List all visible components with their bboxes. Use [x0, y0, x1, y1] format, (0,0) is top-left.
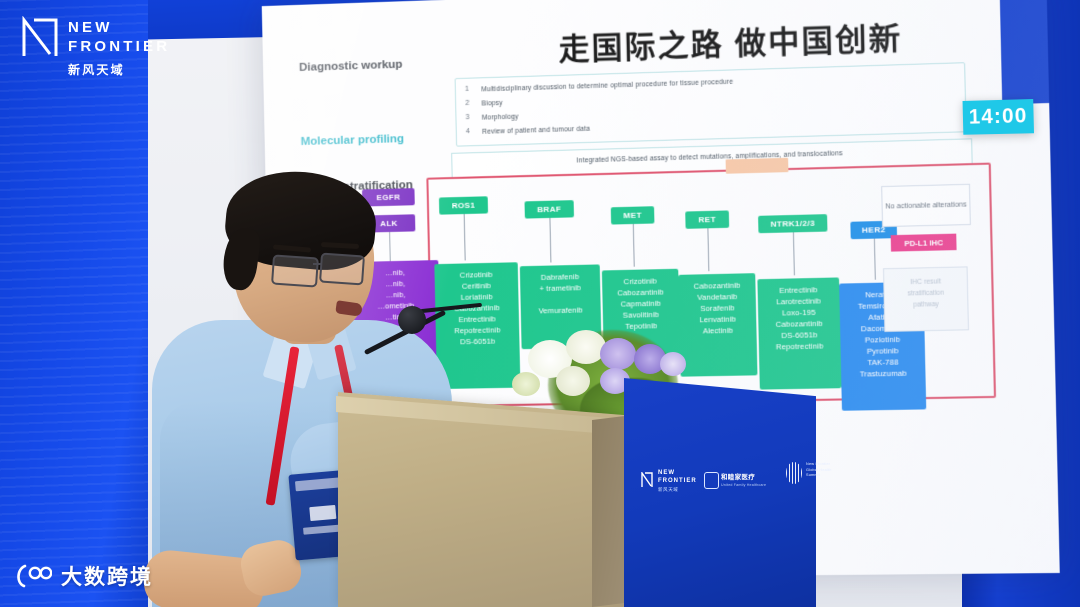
globe-icon [786, 462, 802, 484]
event-logo-line1: NEW [68, 18, 170, 37]
podium-logo-line1: NEW [658, 470, 702, 478]
podium-logo-line2: FRONTIER [658, 478, 702, 486]
watermark: 大数跨境 [12, 561, 153, 591]
ihc-result-box: IHC result stratification pathway [883, 266, 969, 332]
list-index: 1 [465, 86, 469, 93]
n-monogram-icon [20, 16, 60, 58]
drug-column-ntrk: Entrectinib Larotrectinib Loxo-195 Caboz… [757, 277, 841, 389]
gene-box-braf: BRAF [525, 200, 574, 218]
drug-column-ret: Cabozantinib Vandetanib Sorafenib Lenvat… [678, 273, 757, 377]
backdrop-panel-left [0, 0, 148, 607]
podium-logo-united-family: 和睦家医疗 United Family Healthcare [704, 471, 776, 487]
glasses-lens-left [271, 254, 319, 287]
flower-purple [660, 352, 686, 376]
event-logo-line2: FRONTIER [68, 37, 170, 56]
flower-bud [512, 372, 540, 396]
podium-logo-uf-english: United Family Healthcare [721, 483, 776, 487]
list-item: Biopsy [482, 100, 503, 108]
countdown-timer: 14:00 [963, 99, 1034, 135]
united-family-icon [704, 472, 719, 489]
gene-box-ret: RET [685, 210, 729, 228]
glasses-bridge [313, 263, 322, 265]
n-monogram-icon [640, 472, 654, 488]
badge-logo-mark [309, 505, 336, 521]
watermark-text: 大数跨境 [61, 561, 153, 591]
podium-logo-new-frontier: NEW FRONTIER 新风天域 [640, 470, 702, 493]
list-index: 3 [466, 114, 470, 121]
event-logo-chinese: 新风天域 [68, 61, 170, 78]
podium-logo-global-health-summit: New Frontier Global Health Summit [786, 462, 846, 479]
conference-photo-screenshot: NEW FRONTIER 新风天域 走国际之路 做中国创新 1 Multidis… [0, 0, 1080, 607]
list-index: 4 [466, 128, 470, 135]
flower-white [556, 366, 590, 396]
podium-logo-chinese: 新风天域 [658, 487, 702, 493]
list-index: 2 [465, 100, 469, 107]
list-item: Morphology [482, 114, 519, 122]
flower-purple [600, 338, 636, 370]
slide-blue-edge [999, 0, 1049, 104]
microphone-icon [398, 306, 426, 334]
podium-logo-uf-chinese: 和睦家医疗 [721, 471, 776, 481]
circle-arc-icon [12, 563, 52, 589]
podium-logo-ghs-text: New Frontier Global Health Summit [806, 462, 846, 479]
slide-title: 走国际之路 做中国创新 [492, 10, 971, 70]
row-label-molecular: Molecular profiling [301, 132, 405, 149]
pdl1-ihc-badge: PD-L1 IHC [891, 234, 957, 252]
row-label-diagnostic: Diagnostic workup [299, 58, 403, 75]
peach-highlight-box [726, 158, 789, 174]
no-actionable-alterations-box: No actionable alterations [881, 184, 971, 227]
gene-box-ntrk: NTRK1/2/3 [758, 214, 827, 233]
glasses-lens-right [319, 253, 365, 286]
event-logo: NEW FRONTIER 新风天域 [20, 10, 140, 88]
gene-box-met: MET [611, 206, 655, 224]
